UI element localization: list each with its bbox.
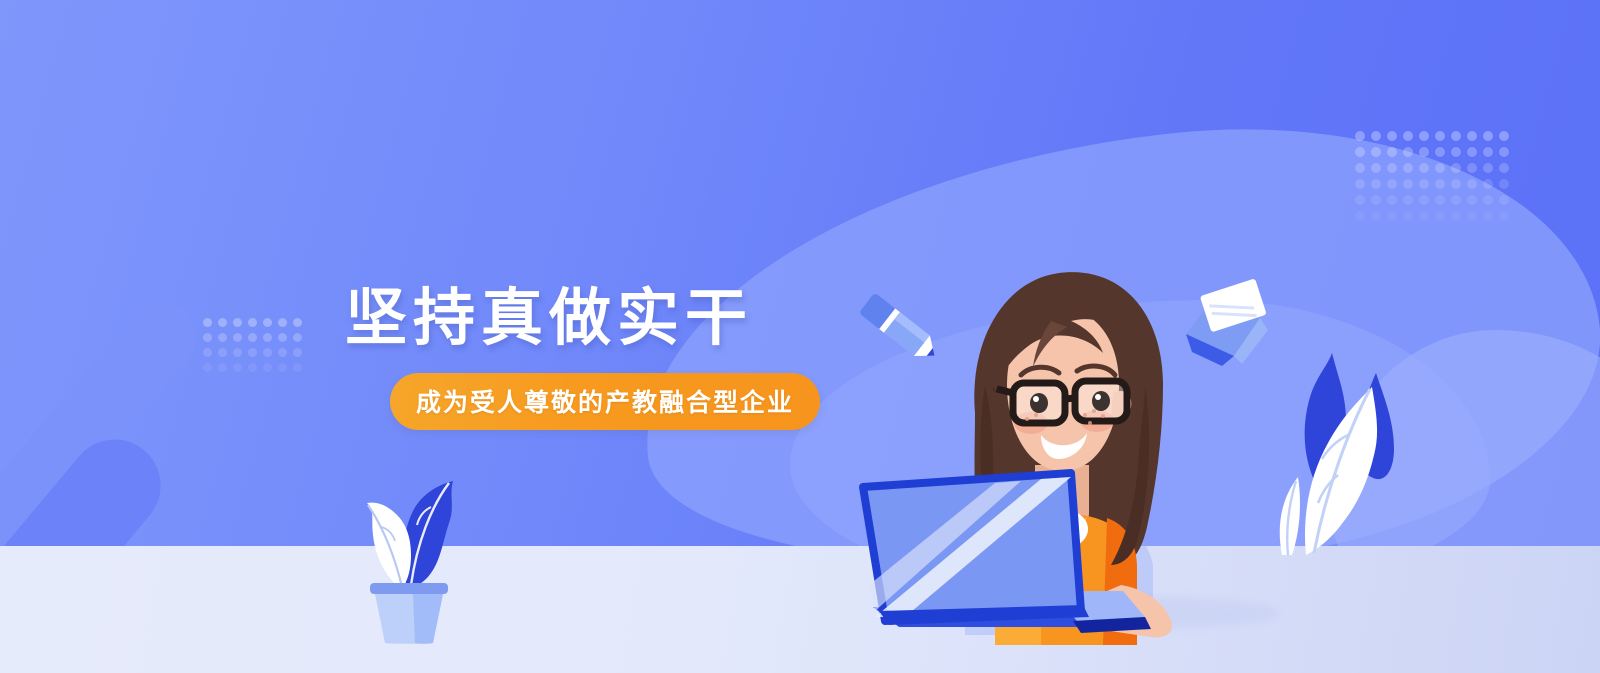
hero-text-block: 坚持真做实干 成为受人尊敬的产教融合型企业 xyxy=(345,286,820,430)
leaf-cluster-icon xyxy=(1248,325,1418,555)
page-title: 坚持真做实干 xyxy=(345,286,820,351)
character-illustration xyxy=(845,235,1265,645)
eye-left xyxy=(1030,393,1048,413)
plant-pot-rim xyxy=(370,583,448,594)
subtitle-badge: 成为受人尊敬的产教融合型企业 xyxy=(390,373,820,430)
eye-right xyxy=(1092,391,1110,411)
potted-plant-icon xyxy=(345,455,475,645)
plant-leaf-blue xyxy=(403,481,453,587)
hero-banner: 坚持真做实干 成为受人尊敬的产教融合型企业 xyxy=(0,0,1600,673)
leaf-white-small xyxy=(1280,477,1300,555)
